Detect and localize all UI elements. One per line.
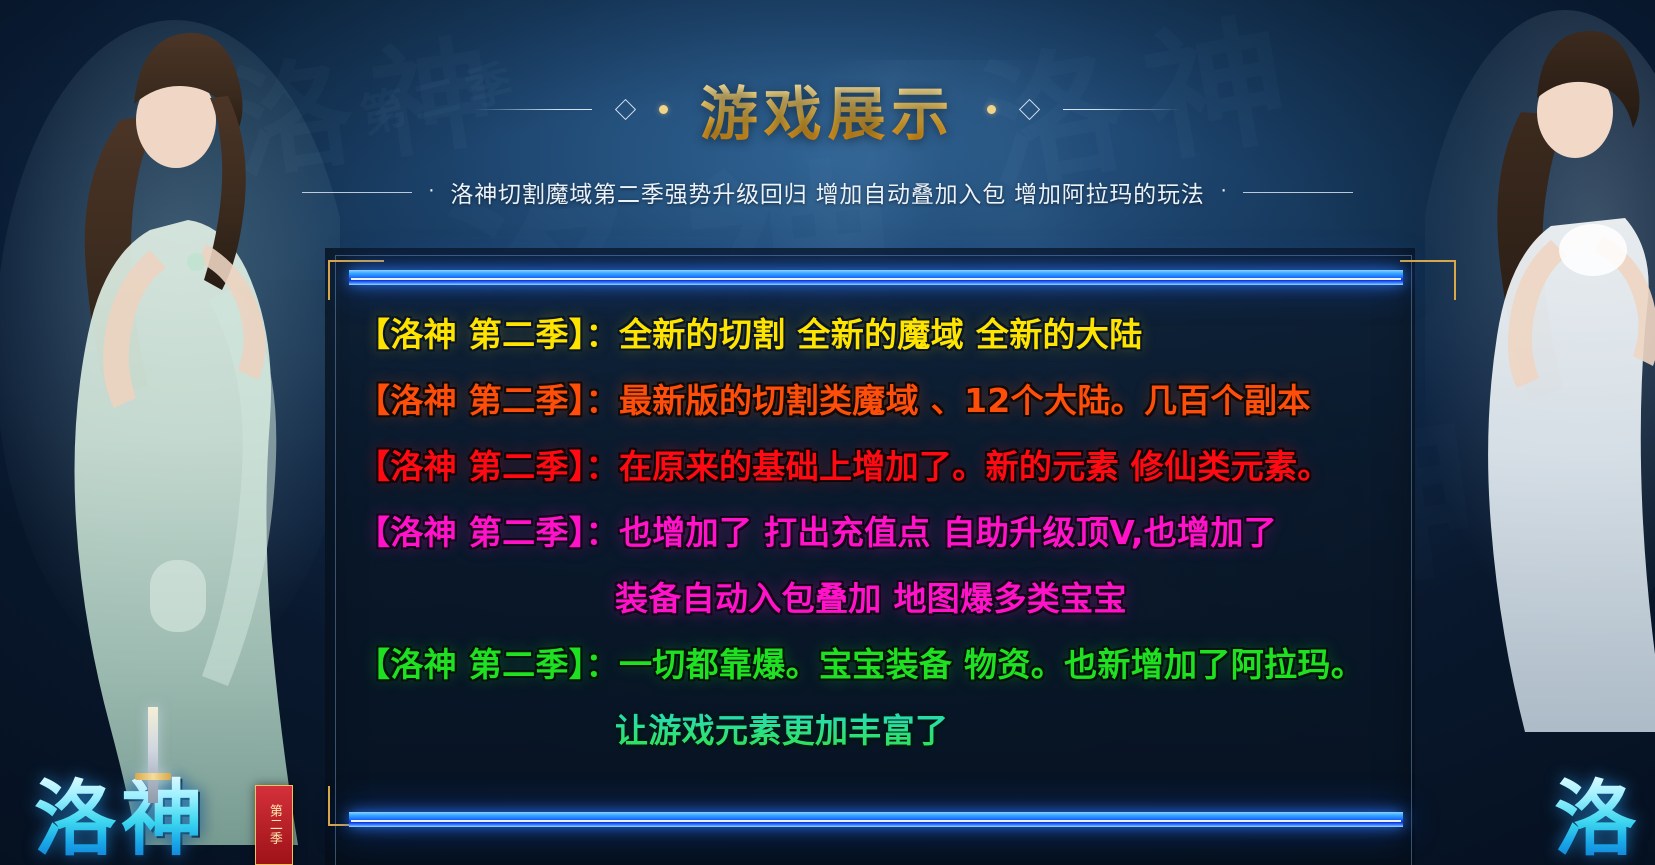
gold-dot-icon <box>987 105 996 114</box>
subtitle-row: · 洛神切割魔域第二季强势升级回归 增加自动叠加入包 增加阿拉玛的玩法 · <box>0 172 1655 212</box>
feature-line: 【洛神 第二季】：也增加了 打出充值点 自助升级顶V,也增加了 <box>357 506 1277 554</box>
feature-line: 【洛神 第二季】：一切都靠爆。宝宝装备 物资。也新增加了阿拉玛。 <box>357 638 1364 686</box>
subtitle-rule-left <box>302 192 412 193</box>
subtitle-bullet-right: · <box>1221 182 1227 201</box>
title-rule-left <box>474 109 592 110</box>
feature-line: 【洛神 第二季】：最新版的切割类魔域 、12个大陆。几百个副本 <box>357 374 1311 422</box>
title-row: 游戏展示 <box>0 66 1655 152</box>
game-promo-banner: 洛神 洛神 洛神 第二季 洛神 <box>0 0 1655 865</box>
feature-line-continued: 让游戏元素更加丰富了 <box>615 704 948 752</box>
feature-line: 【洛神 第二季】：在原来的基础上增加了。新的元素 修仙类元素。 <box>357 440 1331 488</box>
season-badge: 第二季 <box>255 785 293 865</box>
neon-blue-bar-bottom <box>349 812 1403 827</box>
title-rule-right <box>1063 109 1181 110</box>
diamond-outline-icon <box>1019 98 1040 119</box>
subtitle-bullet-left: · <box>428 182 434 201</box>
subtitle-rule-right <box>1243 192 1353 193</box>
feature-line-continued: 装备自动入包叠加 地图爆多类宝宝 <box>615 572 1127 620</box>
diamond-outline-icon <box>615 98 636 119</box>
feature-line: 【洛神 第二季】：全新的切割 全新的魔域 全新的大陆 <box>357 308 1143 356</box>
page-subtitle: 洛神切割魔域第二季强势升级回归 增加自动叠加入包 增加阿拉玛的玩法 <box>450 175 1204 209</box>
neon-blue-bar-top <box>349 270 1403 285</box>
sword-icon <box>148 707 158 803</box>
feature-list: 【洛神 第二季】：全新的切割 全新的魔域 全新的大陆 【洛神 第二季】：最新版的… <box>325 300 1415 800</box>
gold-dot-icon <box>659 105 668 114</box>
page-title: 游戏展示 <box>694 67 961 151</box>
